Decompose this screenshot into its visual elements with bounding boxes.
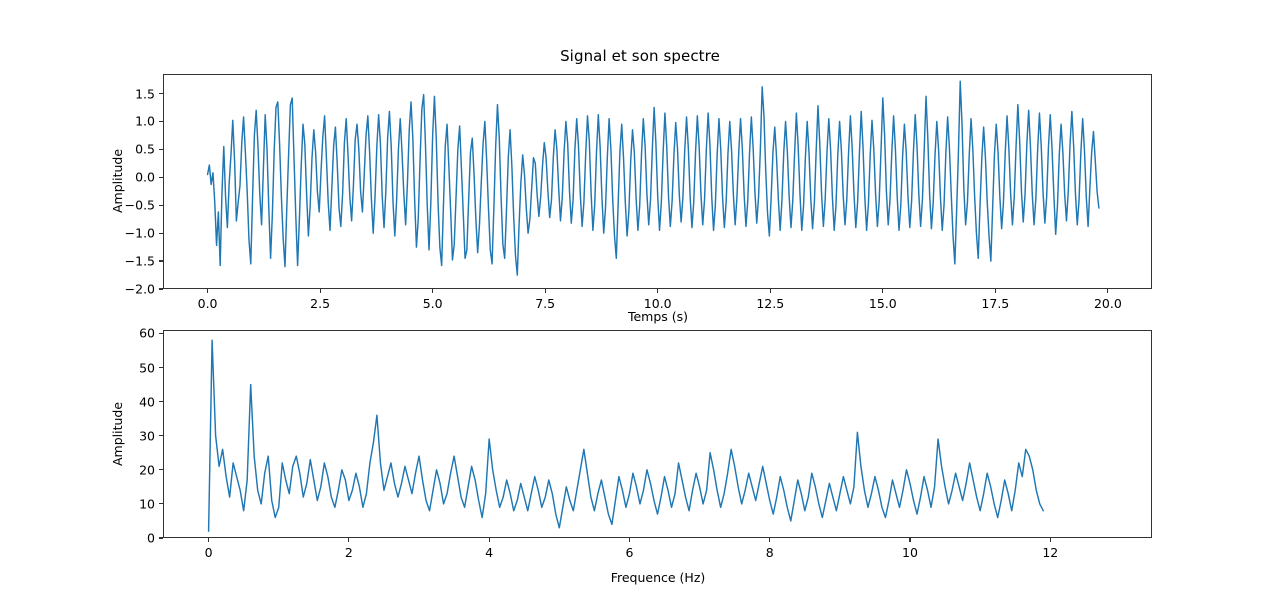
x-tick-mark (882, 289, 883, 293)
signal-data-line (208, 81, 1099, 275)
y-tick-label: −1.0 (125, 226, 155, 241)
y-tick-label: −1.5 (125, 254, 155, 269)
spectrum-line-plot (163, 330, 1152, 538)
spectrum-data-line (209, 340, 1044, 531)
y-tick-mark (159, 401, 163, 402)
y-tick-mark (159, 121, 163, 122)
x-tick-mark (489, 538, 490, 542)
x-tick-label: 7.5 (535, 296, 555, 311)
x-tick-mark (320, 289, 321, 293)
y-tick-mark (159, 333, 163, 334)
x-tick-label: 0.0 (198, 296, 218, 311)
x-tick-label: 20.0 (1094, 296, 1122, 311)
x-tick-mark (909, 538, 910, 542)
spectrum-y-axis-label: Amplitude (110, 402, 125, 466)
y-tick-label: −0.5 (125, 198, 155, 213)
y-tick-label: 60 (139, 326, 155, 341)
y-tick-label: 0.5 (135, 142, 155, 157)
x-tick-label: 17.5 (981, 296, 1009, 311)
y-tick-label: 1.0 (135, 114, 155, 129)
y-tick-mark (159, 205, 163, 206)
x-tick-mark (207, 289, 208, 293)
x-tick-label: 6 (625, 545, 633, 560)
y-tick-mark (159, 233, 163, 234)
x-tick-mark (995, 289, 996, 293)
x-tick-label: 2 (345, 545, 353, 560)
x-tick-mark (770, 289, 771, 293)
y-tick-label: 10 (139, 496, 155, 511)
y-tick-mark (159, 469, 163, 470)
spectrum-plot-axes (163, 330, 1152, 538)
x-tick-label: 10 (902, 545, 918, 560)
y-tick-label: 40 (139, 394, 155, 409)
y-tick-mark (159, 177, 163, 178)
y-tick-label: 20 (139, 462, 155, 477)
y-tick-mark (159, 503, 163, 504)
x-tick-label: 12 (1042, 545, 1058, 560)
signal-plot-axes (163, 74, 1152, 289)
y-tick-label: −2.0 (125, 282, 155, 297)
x-tick-mark (629, 538, 630, 542)
x-tick-mark (769, 538, 770, 542)
y-tick-label: 50 (139, 360, 155, 375)
spectrum-x-axis-label: Frequence (Hz) (611, 570, 706, 585)
y-tick-mark (159, 149, 163, 150)
y-tick-label: 0 (147, 531, 155, 546)
x-tick-label: 5.0 (423, 296, 443, 311)
x-tick-mark (432, 289, 433, 293)
x-tick-mark (1050, 538, 1051, 542)
y-tick-mark (159, 260, 163, 261)
x-tick-mark (545, 289, 546, 293)
x-tick-label: 8 (766, 545, 774, 560)
signal-y-axis-label: Amplitude (110, 149, 125, 213)
x-tick-mark (1107, 289, 1108, 293)
signal-x-axis-label: Temps (s) (628, 309, 688, 324)
x-tick-label: 0 (205, 545, 213, 560)
y-tick-mark (159, 93, 163, 94)
y-tick-label: 0.0 (135, 170, 155, 185)
x-tick-label: 15.0 (869, 296, 897, 311)
figure-title: Signal et son spectre (0, 47, 1280, 65)
x-tick-mark (657, 289, 658, 293)
y-tick-mark (159, 537, 163, 538)
x-tick-mark (348, 538, 349, 542)
x-tick-label: 12.5 (756, 296, 784, 311)
x-tick-mark (208, 538, 209, 542)
signal-line-plot (163, 74, 1152, 289)
y-tick-mark (159, 367, 163, 368)
y-tick-label: 30 (139, 428, 155, 443)
x-tick-label: 4 (485, 545, 493, 560)
y-tick-mark (159, 288, 163, 289)
y-tick-label: 1.5 (135, 86, 155, 101)
matplotlib-figure: Signal et son spectre 0.02.55.07.510.012… (0, 0, 1280, 611)
x-tick-label: 2.5 (310, 296, 330, 311)
y-tick-mark (159, 435, 163, 436)
